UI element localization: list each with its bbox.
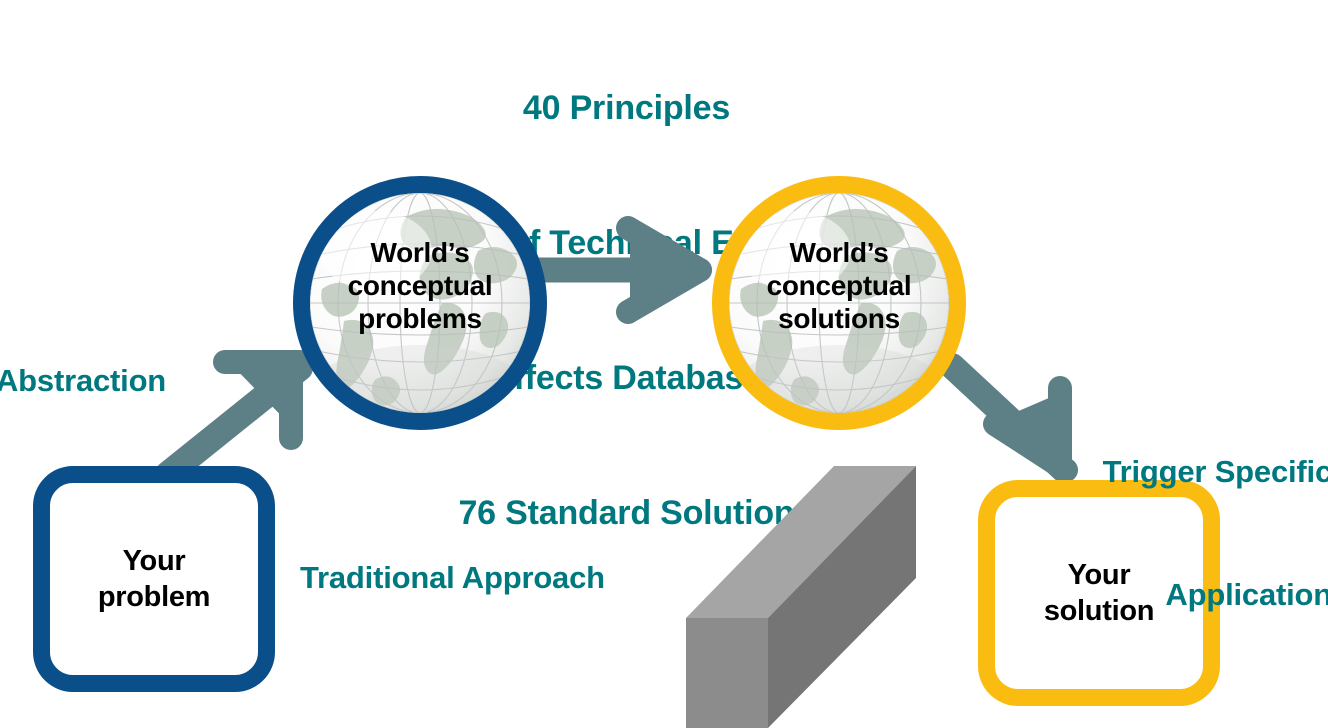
globe-problems-line-2: conceptual (310, 269, 530, 302)
trigger-label-line-1: Trigger Specific (1010, 451, 1328, 492)
trigger-specific-application-label: Trigger Specific Application (1010, 369, 1328, 697)
globe-problems-caption: World’s conceptual problems (310, 236, 530, 335)
globe-conceptual-problems[interactable]: World’s conceptual problems (293, 176, 547, 430)
transfer-arrow (538, 226, 712, 314)
globe-problems-line-1: World’s (310, 236, 530, 269)
diagram-canvas: 40 Principles Trends of Technical Evolut… (0, 0, 1328, 728)
your-problem-line-2: problem (98, 579, 210, 615)
trigger-label-line-2: Application (1010, 574, 1328, 615)
globe-solutions-caption: World’s conceptual solutions (729, 236, 949, 335)
globe-solutions-line-3: solutions (729, 302, 949, 335)
globe-problems-line-3: problems (310, 302, 530, 335)
globe-solutions-line-1: World’s (729, 236, 949, 269)
globe-solutions-line-2: conceptual (729, 269, 949, 302)
your-problem-caption: Your problem (98, 543, 210, 615)
abstraction-label: Abstraction (0, 365, 206, 397)
your-problem-line-1: Your (98, 543, 210, 579)
your-problem-box[interactable]: Your problem (33, 466, 275, 692)
wall-barrier-block (686, 466, 916, 728)
traditional-approach-label: Traditional Approach (300, 562, 700, 594)
globe-conceptual-solutions[interactable]: World’s conceptual solutions (712, 176, 966, 430)
